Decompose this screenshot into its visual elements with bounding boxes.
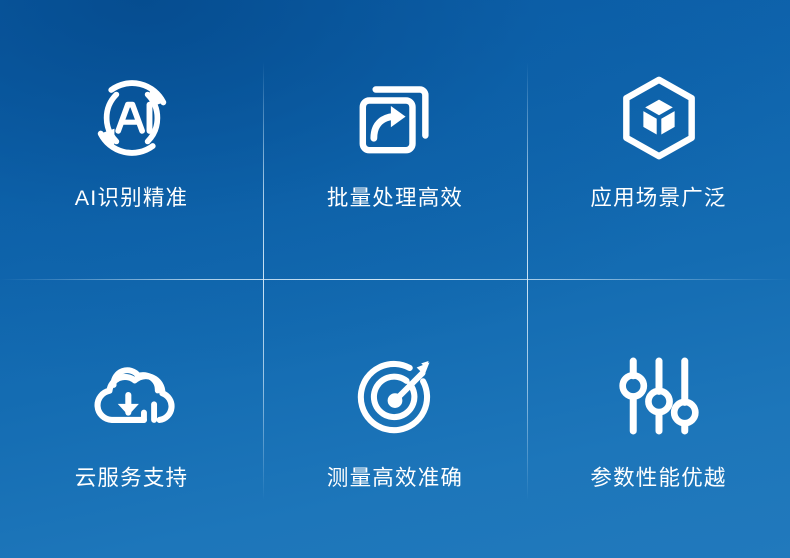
target-arrow-icon — [347, 348, 443, 444]
feature-cell-ai-recognition[interactable]: AI识别精准 — [0, 0, 263, 279]
feature-cell-parameter-performance[interactable]: 参数性能优越 — [527, 279, 790, 558]
cloud-download-chart-icon — [84, 348, 180, 444]
feature-cell-application-scenarios[interactable]: 应用场景广泛 — [527, 0, 790, 279]
feature-label-cloud-service: 云服务支持 — [75, 468, 189, 490]
ai-cycle-icon — [84, 70, 180, 166]
hexagon-cube-icon — [611, 70, 707, 166]
feature-label-parameter-performance: 参数性能优越 — [590, 468, 726, 490]
batch-copy-arrow-icon — [347, 70, 443, 166]
feature-label-application-scenarios: 应用场景广泛 — [590, 188, 726, 210]
feature-label-batch-processing: 批量处理高效 — [327, 188, 463, 210]
feature-label-ai-recognition: AI识别精准 — [75, 188, 189, 210]
feature-grid: AI识别精准 批量处理高效 — [0, 0, 790, 558]
sliders-icon — [611, 348, 707, 444]
feature-grid-panel: AI识别精准 批量处理高效 — [0, 0, 790, 558]
feature-label-measurement: 测量高效准确 — [327, 468, 463, 490]
feature-cell-cloud-service[interactable]: 云服务支持 — [0, 279, 263, 558]
feature-cell-measurement[interactable]: 测量高效准确 — [263, 279, 527, 558]
feature-cell-batch-processing[interactable]: 批量处理高效 — [263, 0, 527, 279]
